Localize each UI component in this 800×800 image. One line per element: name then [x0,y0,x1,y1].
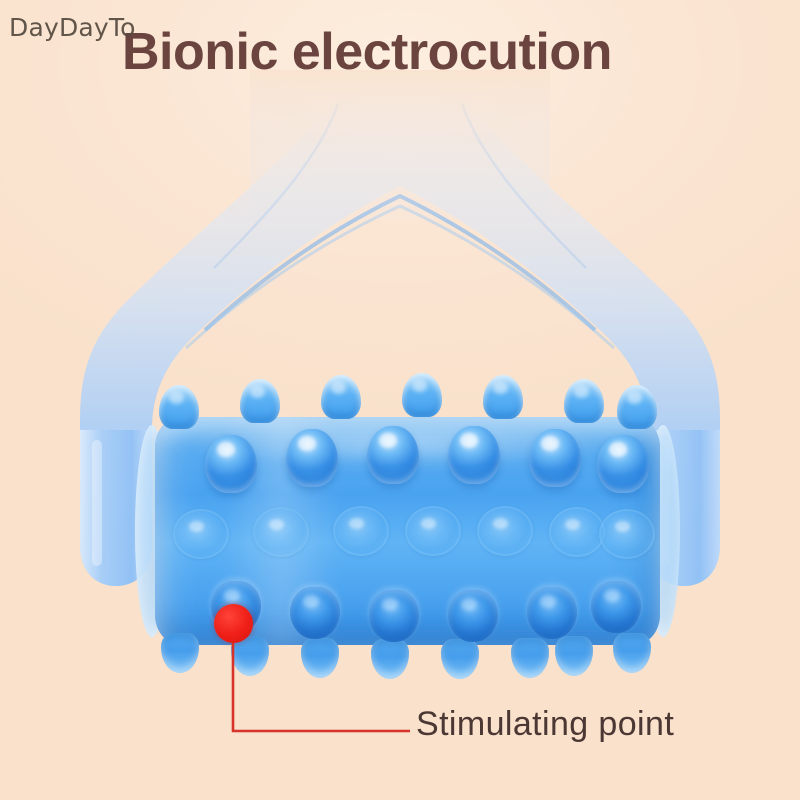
roller-bump [597,435,649,493]
roller-bump [549,507,605,557]
stimulating-point-label: Stimulating point [416,707,674,741]
roller-bump [253,507,309,557]
roller-bump [599,509,655,559]
roller-bump [290,587,340,639]
roller-bump [369,590,419,642]
roller-bump [333,506,389,556]
roller-bump [529,429,581,487]
stimulating-point-marker-dot [214,604,253,643]
leg-highlight-left [92,440,102,566]
roller-bump [448,590,498,642]
roller-bump [286,429,338,487]
roller-bump [205,435,257,493]
roller-bump [448,426,500,484]
roller-bump [405,506,461,556]
roller-bump [591,581,641,633]
roller-bump [477,506,533,556]
watermark: DayDayTo [9,13,136,42]
handle-svg [0,0,800,800]
translucent-arch-handle [0,0,800,800]
page-title: Bionic electrocution [122,26,612,78]
roller-bump [527,587,577,639]
roller-bump [173,509,229,559]
handle-top-fade [250,70,550,220]
roller-bump [367,426,419,484]
product-image-canvas: Stimulating point Bionic electrocution D… [0,0,800,800]
